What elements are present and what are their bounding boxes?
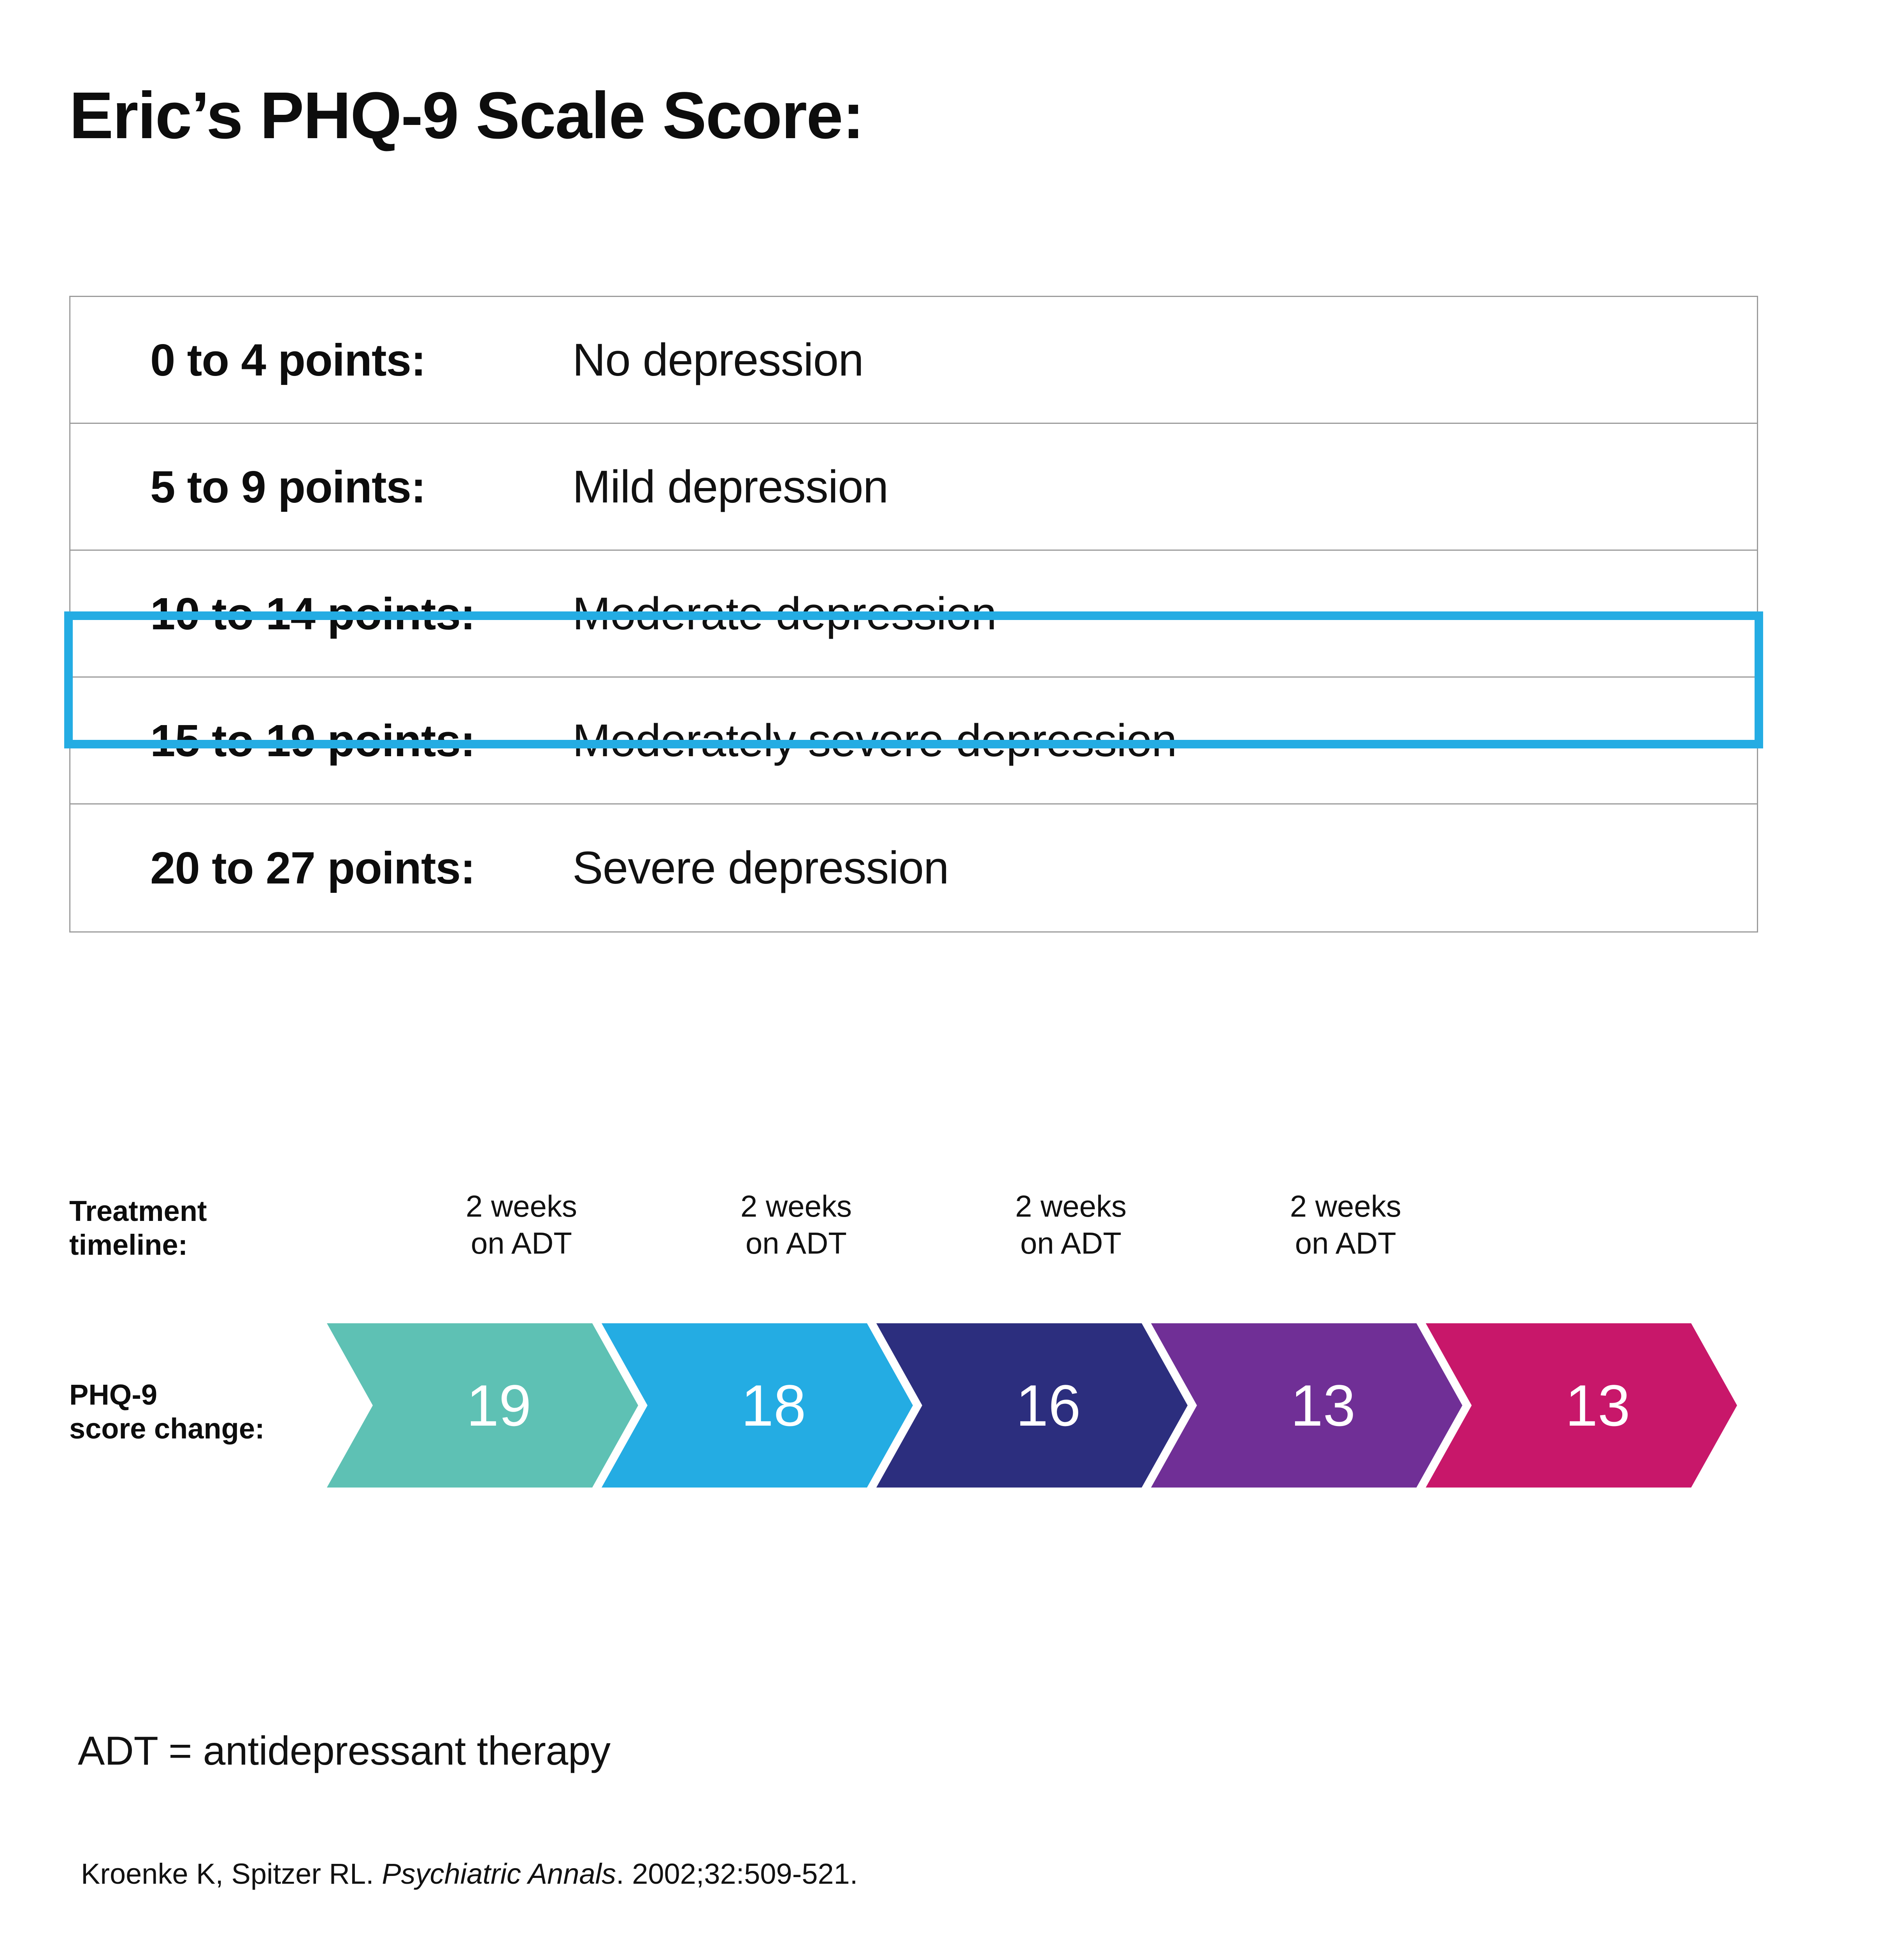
phq9-scale-table: 0 to 4 points: No depression 5 to 9 poin… xyxy=(69,296,1758,933)
score-value: 18 xyxy=(741,1376,806,1435)
score-chevron: 18 xyxy=(602,1323,913,1488)
interval-duration: 2 weeks xyxy=(466,1189,577,1223)
treatment-timeline-label-line2: timeline: xyxy=(69,1229,188,1261)
abbreviation-note: ADT = antidepressant therapy xyxy=(78,1728,611,1774)
interval-label: 2 weeks on ADT xyxy=(962,1188,1180,1262)
table-row-highlighted: 10 to 14 points: Moderate depression xyxy=(70,551,1757,678)
score-range-label: 0 to 4 points: xyxy=(70,334,572,386)
severity-description: Severe depression xyxy=(572,841,949,894)
score-chevron: 19 xyxy=(327,1323,638,1488)
citation: Kroenke K, Spitzer RL. Psychiatric Annal… xyxy=(81,1857,858,1890)
interval-treatment: on ADT xyxy=(471,1226,572,1260)
treatment-timeline-label: Treatment timeline: xyxy=(69,1194,207,1262)
score-range-label: 5 to 9 points: xyxy=(70,461,572,513)
interval-duration: 2 weeks xyxy=(741,1189,852,1223)
score-range-label: 10 to 14 points: xyxy=(70,588,572,640)
interval-label: 2 weeks on ADT xyxy=(687,1188,905,1262)
score-chevron: 13 xyxy=(1151,1323,1462,1488)
table-row: 5 to 9 points: Mild depression xyxy=(70,424,1757,551)
severity-description: Moderate depression xyxy=(572,587,997,640)
score-value: 16 xyxy=(1016,1376,1081,1435)
citation-details: . 2002;32:509-521. xyxy=(616,1858,858,1890)
table-row: 0 to 4 points: No depression xyxy=(70,297,1757,424)
interval-treatment: on ADT xyxy=(1295,1226,1396,1260)
severity-description: Mild depression xyxy=(572,460,888,513)
treatment-timeline-label-line1: Treatment xyxy=(69,1195,207,1227)
score-value: 19 xyxy=(467,1376,532,1435)
citation-authors: Kroenke K, Spitzer RL. xyxy=(81,1858,382,1890)
interval-duration: 2 weeks xyxy=(1290,1189,1401,1223)
score-value: 13 xyxy=(1565,1376,1630,1435)
citation-journal: Psychiatric Annals xyxy=(382,1858,616,1890)
page-title: Eric’s PHQ-9 Scale Score: xyxy=(69,83,863,149)
severity-description: Moderately severe depression xyxy=(572,714,1177,767)
interval-label: 2 weeks on ADT xyxy=(412,1188,630,1262)
treatment-timeline-section: Treatment timeline: PHQ-9 score change: … xyxy=(0,1168,1904,1518)
score-chevron: 13 xyxy=(1426,1323,1737,1488)
score-chevron: 16 xyxy=(876,1323,1188,1488)
score-value: 13 xyxy=(1291,1376,1356,1435)
interval-treatment: on ADT xyxy=(1020,1226,1121,1260)
interval-duration: 2 weeks xyxy=(1015,1189,1127,1223)
severity-description: No depression xyxy=(572,334,863,386)
score-range-label: 20 to 27 points: xyxy=(70,842,572,894)
score-range-label: 15 to 19 points: xyxy=(70,715,572,767)
interval-treatment: on ADT xyxy=(746,1226,847,1260)
table-row: 15 to 19 points: Moderately severe depre… xyxy=(70,678,1757,804)
table-row: 20 to 27 points: Severe depression xyxy=(70,804,1757,931)
interval-label: 2 weeks on ADT xyxy=(1237,1188,1455,1262)
score-chevron-row: 19 18 16 13 13 xyxy=(0,1323,1904,1491)
